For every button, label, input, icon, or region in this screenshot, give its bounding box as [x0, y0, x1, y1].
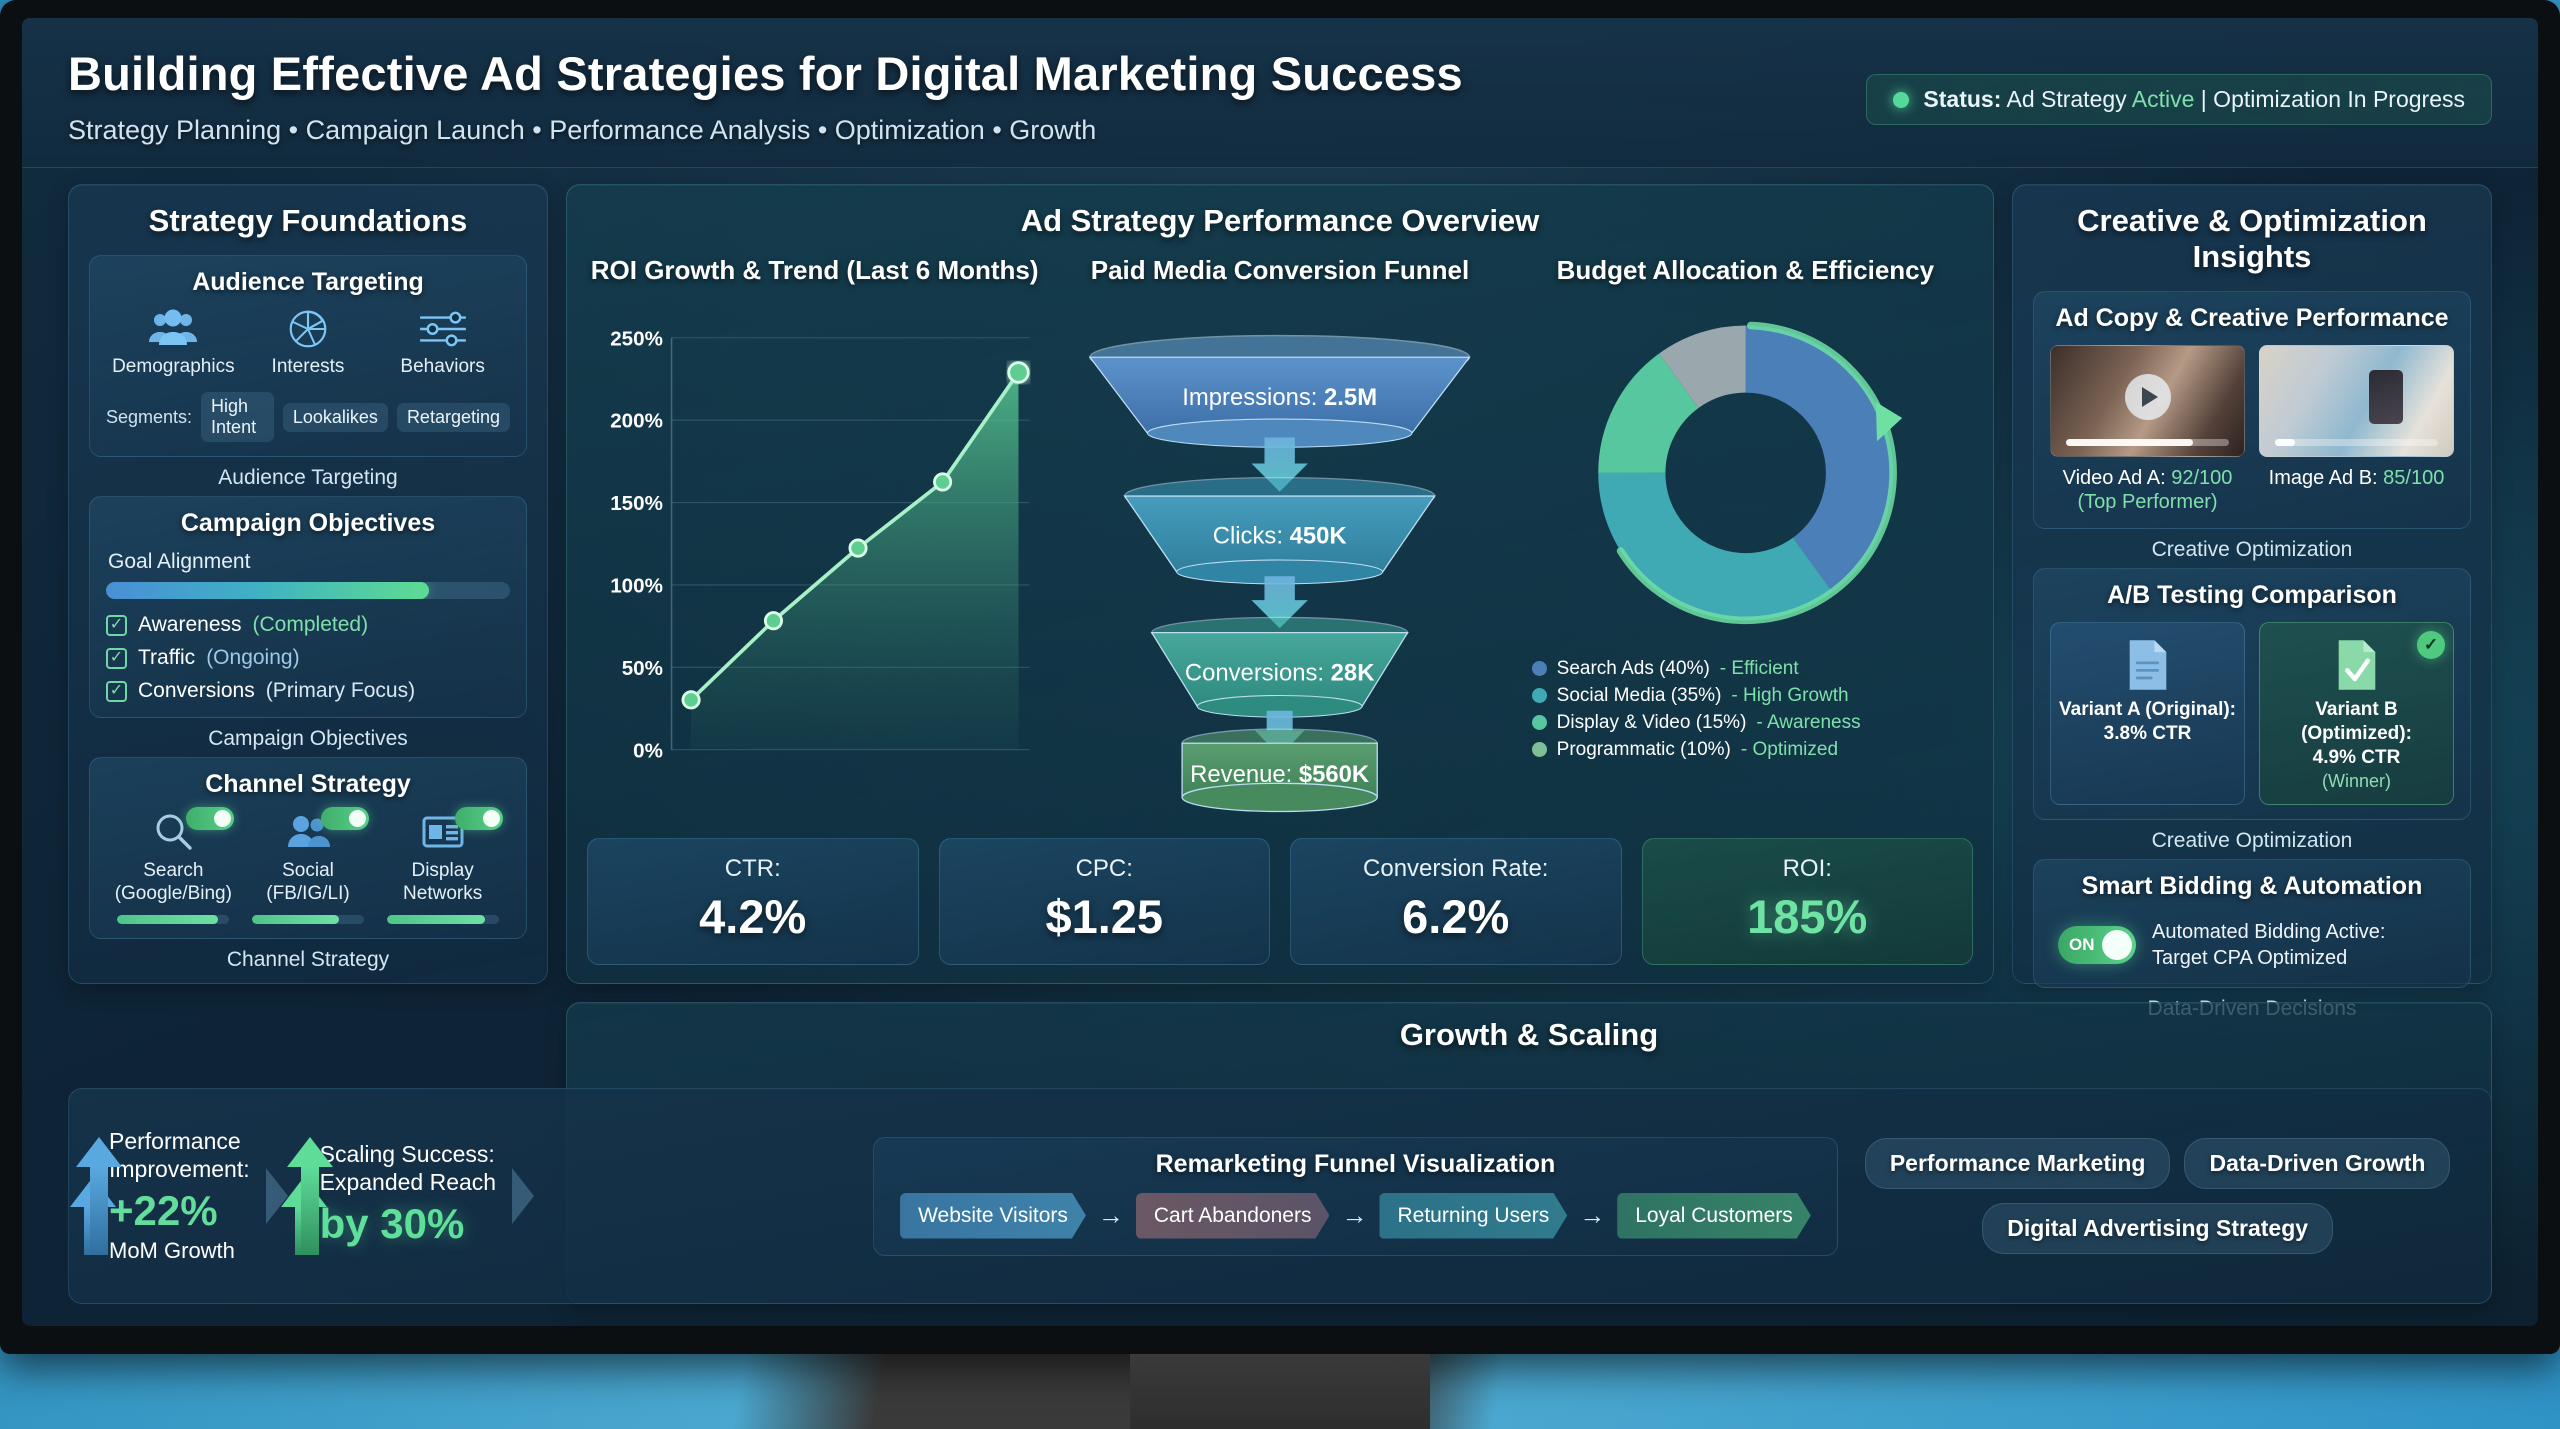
segment-chip-retargeting[interactable]: Retargeting — [397, 403, 510, 432]
variant-b-card[interactable]: ✓ Variant B (Optimized): 4.9% CTR (Winne… — [2259, 622, 2454, 805]
channel-icon-row: Search (Google/Bing) — [106, 811, 510, 924]
channel-item-social[interactable]: Social (FB/IG/LI) — [241, 811, 374, 924]
checkbox-checked-icon[interactable]: ✓ — [106, 648, 127, 669]
channel-bar-display — [387, 915, 499, 924]
objective-label-conversions: Conversions — [138, 679, 255, 703]
channel-toggle-social[interactable] — [321, 807, 369, 830]
audience-label-interests: Interests — [272, 356, 345, 378]
objective-conversions[interactable]: ✓ Conversions (Primary Focus) — [106, 679, 510, 703]
status-value: Ad Strategy — [2001, 86, 2131, 112]
objective-status-conversions: (Primary Focus) — [266, 679, 415, 703]
kpi-row: CTR: 4.2% CPC: $1.25 Conversion Rate: 6.… — [587, 838, 1973, 965]
monitor-bezel: Building Effective Ad Strategies for Dig… — [0, 0, 2560, 1354]
image-progress-bar[interactable] — [2275, 439, 2437, 446]
legend-item-search-ads: Search Ads (40%) - Efficient — [1532, 658, 1973, 680]
channels-footer: Channel Strategy — [89, 948, 527, 972]
channel-label-search: Search (Google/Bing) — [115, 860, 232, 905]
smart-bidding-title: Smart Bidding & Automation — [2050, 872, 2454, 901]
channel-social-line1: Social — [282, 860, 334, 881]
performance-sub: MoM Growth — [109, 1238, 250, 1265]
objectives-list: ✓ Awareness (Completed) ✓ Traffic (Ongoi… — [106, 613, 510, 703]
abtest-footer: Creative Optimization — [2033, 829, 2471, 853]
funnel-svg: Impressions: 2.5M Clicks: 450K — [1052, 294, 1507, 826]
objective-traffic[interactable]: ✓ Traffic (Ongoing) — [106, 646, 510, 670]
arrow-right-icon: → — [1571, 1200, 1613, 1231]
channel-strategy-card: Channel Strategy Search (Google/Bing) — [89, 757, 527, 939]
right-panel-title: Creative & Optimization Insights — [2033, 203, 2471, 275]
objective-label-awareness: Awareness — [138, 613, 242, 637]
kpi-ctr[interactable]: CTR: 4.2% — [587, 838, 919, 965]
audience-icon-row: Demographics Interests — [106, 309, 510, 378]
stage-website-visitors[interactable]: Website Visitors — [900, 1193, 1086, 1239]
budget-legend: Search Ads (40%) - Efficient Social Medi… — [1518, 658, 1973, 761]
audience-label-behaviors: Behaviors — [400, 356, 485, 378]
smart-bidding-row: ON Automated Bidding Active: Target CPA … — [2050, 913, 2454, 973]
performance-arrows-icon — [93, 1137, 99, 1255]
pie-chart-icon — [285, 309, 331, 349]
stage-cart-abandoners[interactable]: Cart Abandoners — [1136, 1193, 1330, 1239]
performance-overview-panel: Ad Strategy Performance Overview ROI Gro… — [566, 184, 1994, 984]
objectives-footer: Campaign Objectives — [89, 727, 527, 751]
sliders-icon — [416, 309, 470, 349]
variant-b-metric: 4.9% CTR — [2268, 746, 2445, 770]
stage-returning-users[interactable]: Returning Users — [1379, 1193, 1567, 1239]
creative-item-image-ad-b[interactable]: Image Ad B: 85/100 — [2259, 345, 2454, 514]
campaign-objectives-title: Campaign Objectives — [106, 509, 510, 538]
checkbox-checked-icon[interactable]: ✓ — [106, 615, 127, 636]
kpi-label-ctr: CTR: — [598, 855, 908, 883]
tag-digital-advertising-strategy[interactable]: Digital Advertising Strategy — [1982, 1203, 2333, 1254]
document-check-icon — [2333, 637, 2381, 693]
document-icon — [2124, 637, 2172, 693]
legend-text-social-media: Social Media (35%) — [1557, 685, 1722, 707]
channel-search-line2: (Google/Bing) — [115, 883, 232, 904]
roi-line-chart: ROI Growth & Trend (Last 6 Months) — [587, 255, 1042, 826]
channel-search-line1: Search — [143, 860, 203, 881]
growth-metrics: Performance Improvement: +22% MoM Growth… — [93, 1127, 863, 1265]
channel-item-display[interactable]: Display Networks — [376, 811, 509, 924]
funnel-value-4: $560K — [1299, 761, 1369, 788]
funnel-label-3: Conversions: — [1185, 659, 1324, 686]
kpi-conversion-rate[interactable]: Conversion Rate: 6.2% — [1290, 838, 1622, 965]
stage-loyal-customers[interactable]: Loyal Customers — [1617, 1193, 1811, 1239]
funnel-label-1: Impressions: — [1183, 384, 1318, 411]
charts-row: ROI Growth & Trend (Last 6 Months) — [587, 255, 1973, 826]
svg-text:150%: 150% — [610, 492, 663, 515]
automated-bidding-toggle[interactable]: ON — [2058, 926, 2136, 964]
funnel-stage-1-text: Impressions: 2.5M — [1183, 384, 1378, 411]
funnel-value-2: 450K — [1290, 523, 1347, 550]
channel-toggle-display[interactable] — [455, 807, 503, 830]
video-progress-bar[interactable] — [2066, 439, 2228, 446]
objective-status-awareness: (Completed) — [253, 613, 369, 637]
smart-bidding-block: Smart Bidding & Automation ON Automated … — [2033, 859, 2471, 1021]
ab-testing-block: A/B Testing Comparison Variant A (Origin… — [2033, 568, 2471, 853]
chevron-right-icon — [512, 1168, 534, 1224]
channel-display-line2: Networks — [403, 883, 482, 904]
scaling-metric: Scaling Success: Expanded Reach by 30% — [320, 1140, 496, 1251]
status-text: Status: Ad Strategy Active | Optimizatio… — [1923, 86, 2465, 113]
objective-awareness[interactable]: ✓ Awareness (Completed) — [106, 613, 510, 637]
status-label: Status: — [1923, 86, 2001, 112]
svg-text:100%: 100% — [610, 575, 663, 598]
toggle-label-on: ON — [2069, 935, 2095, 955]
ab-testing-title: A/B Testing Comparison — [2050, 581, 2454, 610]
channel-strategy-block: Channel Strategy Search (Google/Bing) — [89, 757, 527, 972]
roi-chart-title: ROI Growth & Trend (Last 6 Months) — [587, 255, 1042, 286]
image-ad-thumbnail[interactable] — [2259, 345, 2454, 457]
creative-score-b: 85/100 — [2383, 467, 2444, 489]
legend-text-display-video: Display & Video (15%) — [1557, 712, 1747, 734]
creative-sub-a: (Top Performer) — [2077, 491, 2217, 513]
audience-targeting-title: Audience Targeting — [106, 268, 510, 297]
play-icon[interactable] — [2125, 374, 2171, 420]
screen: Building Effective Ad Strategies for Dig… — [22, 18, 2538, 1326]
variant-b-sub: (Winner) — [2268, 771, 2445, 792]
legend-note-social-media: - High Growth — [1731, 685, 1848, 707]
channel-social-line2: (FB/IG/LI) — [266, 883, 349, 904]
ab-testing-card: A/B Testing Comparison Variant A (Origin… — [2033, 568, 2471, 820]
performance-value: +22% — [109, 1185, 250, 1236]
segment-chip-high-intent[interactable]: High Intent — [201, 392, 274, 442]
funnel-stage-2-text: Clicks: 450K — [1213, 523, 1347, 550]
status-badge[interactable]: Status: Ad Strategy Active | Optimizatio… — [1866, 74, 2492, 125]
segment-chip-lookalikes[interactable]: Lookalikes — [283, 403, 388, 432]
bidding-line1: Automated Bidding Active: — [2152, 919, 2385, 945]
funnel-label-4: Revenue: — [1191, 761, 1293, 788]
winner-check-icon: ✓ — [2417, 631, 2445, 659]
funnel-title: Paid Media Conversion Funnel — [1052, 255, 1507, 286]
kpi-value-conversion-rate: 6.2% — [1301, 889, 1611, 944]
creative-footer: Creative Optimization — [2033, 538, 2471, 562]
status-dot-icon — [1893, 92, 1909, 108]
kpi-label-cpc: CPC: — [950, 855, 1260, 883]
legend-dot-icon — [1532, 742, 1547, 757]
legend-note-programmatic: - Optimized — [1741, 739, 1838, 761]
tag-data-driven-growth[interactable]: Data-Driven Growth — [2184, 1138, 2450, 1189]
channel-item-search[interactable]: Search (Google/Bing) — [107, 811, 240, 924]
kpi-value-ctr: 4.2% — [598, 889, 908, 944]
audience-item-interests[interactable]: Interests — [241, 309, 374, 378]
creative-label-a: Video Ad A: — [2063, 467, 2166, 489]
legend-item-display-video: Display & Video (15%) - Awareness — [1532, 712, 1973, 734]
svg-text:50%: 50% — [622, 657, 663, 680]
channel-bar-social — [252, 915, 364, 924]
svg-text:200%: 200% — [610, 410, 663, 433]
arrow-right-icon: → — [1090, 1200, 1132, 1231]
goal-alignment-label: Goal Alignment — [108, 550, 510, 574]
remarketing-stages: Website Visitors → Cart Abandoners → Ret… — [892, 1193, 1820, 1239]
tag-performance-marketing[interactable]: Performance Marketing — [1865, 1138, 2171, 1189]
creative-insights-panel: Creative & Optimization Insights Ad Copy… — [2012, 184, 2492, 984]
remarketing-funnel: Remarketing Funnel Visualization Website… — [873, 1137, 1839, 1256]
conversion-funnel-chart: Paid Media Conversion Funnel — [1052, 255, 1507, 826]
ad-copy-card: Ad Copy & Creative Performance Video Ad … — [2033, 291, 2471, 529]
legend-dot-icon — [1532, 661, 1547, 676]
channel-strategy-title: Channel Strategy — [106, 770, 510, 799]
svg-text:0%: 0% — [633, 739, 663, 762]
ab-variants-row: Variant A (Original): 3.8% CTR ✓ Variant… — [2050, 622, 2454, 805]
remarketing-title: Remarketing Funnel Visualization — [892, 1150, 1820, 1179]
tag-list: Performance Marketing Data-Driven Growth… — [1848, 1138, 2467, 1254]
audience-targeting-block: Audience Targeting Demographics — [89, 255, 527, 490]
performance-caption-1: Performance — [109, 1127, 250, 1155]
legend-text-programmatic: Programmatic (10%) — [1557, 739, 1731, 761]
creative-thumbnails-row: Video Ad A: 92/100 (Top Performer) Image… — [2050, 345, 2454, 514]
audience-label-demographics: Demographics — [112, 356, 235, 378]
bidding-line2: Target CPA Optimized — [2152, 945, 2385, 971]
channel-label-social: Social (FB/IG/LI) — [266, 860, 349, 905]
creative-item-video-ad-a[interactable]: Video Ad A: 92/100 (Top Performer) — [2050, 345, 2245, 514]
header: Building Effective Ad Strategies for Dig… — [22, 18, 2538, 168]
kpi-value-roi: 185% — [1653, 889, 1963, 944]
performance-metric: Performance Improvement: +22% MoM Growth — [109, 1127, 250, 1265]
variant-a-card[interactable]: Variant A (Original): 3.8% CTR — [2050, 622, 2245, 805]
scaling-arrows-icon — [304, 1137, 310, 1255]
campaign-objectives-block: Campaign Objectives Goal Alignment ✓ Awa… — [89, 496, 527, 751]
growth-bottom-bar: Performance Improvement: +22% MoM Growth… — [68, 1088, 2492, 1304]
status-tail: | Optimization In Progress — [2194, 86, 2465, 112]
objective-status-traffic: (Ongoing) — [206, 646, 299, 670]
channel-toggle-search[interactable] — [186, 807, 234, 830]
legend-dot-icon — [1532, 688, 1547, 703]
growth-title: Growth & Scaling — [587, 1017, 2471, 1053]
performance-caption-2: Improvement: — [109, 1155, 250, 1183]
smart-bidding-text: Automated Bidding Active: Target CPA Opt… — [2152, 919, 2385, 971]
strategy-foundations-panel: Strategy Foundations Audience Targeting — [68, 184, 548, 984]
kpi-roi[interactable]: ROI: 185% — [1642, 838, 1974, 965]
kpi-label-roi: ROI: — [1653, 855, 1963, 883]
creative-score-a: 92/100 — [2171, 467, 2232, 489]
audience-item-behaviors[interactable]: Behaviors — [376, 309, 509, 378]
variant-a-name: Variant A (Original): — [2059, 698, 2236, 722]
audience-targeting-card: Audience Targeting Demographics — [89, 255, 527, 457]
kpi-cpc[interactable]: CPC: $1.25 — [939, 838, 1271, 965]
creative-caption-a: Video Ad A: 92/100 (Top Performer) — [2050, 466, 2245, 514]
channel-display-line1: Display — [411, 860, 473, 881]
legend-note-display-video: - Awareness — [1756, 712, 1860, 734]
channel-label-display: Display Networks — [403, 860, 482, 905]
legend-dot-icon — [1532, 715, 1547, 730]
segments-label: Segments: — [106, 407, 192, 428]
funnel-stage-4-text: Revenue: $560K — [1191, 761, 1370, 788]
scaling-caption-2: Expanded Reach — [320, 1168, 496, 1196]
scaling-value: by 30% — [320, 1198, 496, 1249]
audience-item-demographics[interactable]: Demographics — [107, 309, 240, 378]
segments-row: Segments: High Intent Lookalikes Retarge… — [106, 392, 510, 442]
kpi-value-cpc: $1.25 — [950, 889, 1260, 944]
audience-footer: Audience Targeting — [89, 466, 527, 490]
creative-caption-b: Image Ad B: 85/100 — [2259, 466, 2454, 490]
funnel-label-2: Clicks: — [1213, 523, 1283, 550]
legend-text-search-ads: Search Ads (40%) — [1557, 658, 1710, 680]
smart-bidding-card: Smart Bidding & Automation ON Automated … — [2033, 859, 2471, 988]
left-panel-title: Strategy Foundations — [89, 203, 527, 239]
ad-copy-block: Ad Copy & Creative Performance Video Ad … — [2033, 291, 2471, 562]
variant-a-metric: 3.8% CTR — [2059, 722, 2236, 746]
monitor-stand — [1130, 1354, 1430, 1429]
campaign-objectives-card: Campaign Objectives Goal Alignment ✓ Awa… — [89, 496, 527, 718]
variant-b-name: Variant B (Optimized): — [2268, 698, 2445, 746]
goal-alignment-fill — [106, 582, 429, 599]
funnel-value-1: 2.5M — [1324, 384, 1377, 411]
legend-item-programmatic: Programmatic (10%) - Optimized — [1532, 739, 1973, 761]
donut-svg — [1518, 294, 1973, 652]
budget-allocation-chart: Budget Allocation & Efficiency — [1518, 255, 1973, 826]
legend-item-social-media: Social Media (35%) - High Growth — [1532, 685, 1973, 707]
budget-chart-title: Budget Allocation & Efficiency — [1518, 255, 1973, 286]
legend-note-search-ads: - Efficient — [1720, 658, 1799, 680]
kpi-label-conversion-rate: Conversion Rate: — [1301, 855, 1611, 883]
svg-text:250%: 250% — [610, 327, 663, 350]
creative-label-b: Image Ad B: — [2269, 467, 2378, 489]
goal-alignment-progress — [106, 582, 510, 599]
center-panel-title: Ad Strategy Performance Overview — [587, 203, 1973, 239]
checkbox-checked-icon[interactable]: ✓ — [106, 681, 127, 702]
scaling-caption-1: Scaling Success: — [320, 1140, 496, 1168]
funnel-value-3: 28K — [1331, 659, 1375, 686]
funnel-stage-3-text: Conversions: 28K — [1185, 659, 1375, 686]
users-icon — [146, 309, 200, 349]
ad-copy-title: Ad Copy & Creative Performance — [2050, 304, 2454, 333]
video-ad-thumbnail[interactable] — [2050, 345, 2245, 457]
objective-label-traffic: Traffic — [138, 646, 195, 670]
main-grid: Strategy Foundations Audience Targeting — [22, 168, 2538, 1326]
status-highlight: Active — [2132, 86, 2195, 112]
roi-chart-svg: 250% 200% 150% 100% 50% 0% — [587, 294, 1042, 826]
channel-bar-search — [117, 915, 229, 924]
arrow-right-icon: → — [1333, 1200, 1375, 1231]
